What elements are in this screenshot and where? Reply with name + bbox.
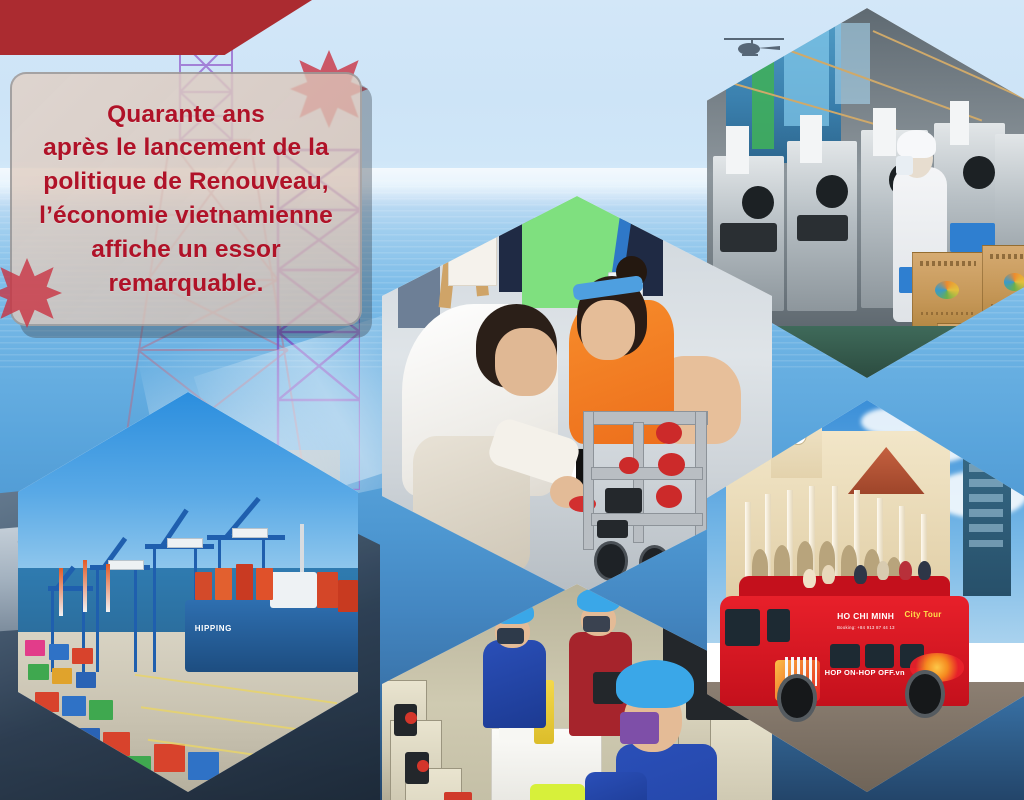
page-title: Quarante ansaprès le lancement de lapoli… — [23, 98, 349, 301]
face-mask — [620, 712, 659, 744]
garment-worker — [483, 640, 545, 728]
hair-net-cap — [616, 660, 694, 708]
poster-canvas: Quarante ansaprès le lancement de lapoli… — [0, 0, 1024, 800]
helicopter-icon — [722, 32, 786, 62]
bus-city-label: HO CHI MINH — [837, 611, 894, 621]
ship-name-text: HIPPING — [195, 624, 232, 633]
bus-city-tour-label: City Tour — [904, 610, 941, 619]
headline-card: Quarante ansaprès le lancement de lapoli… — [10, 72, 362, 326]
container-ship — [185, 600, 358, 672]
bus-hop-on-hop-off-label: HOP ON-HOP OFF.vn — [825, 668, 905, 677]
bus-booking-label: Booking: +84 913 87 44 13 — [837, 625, 895, 630]
